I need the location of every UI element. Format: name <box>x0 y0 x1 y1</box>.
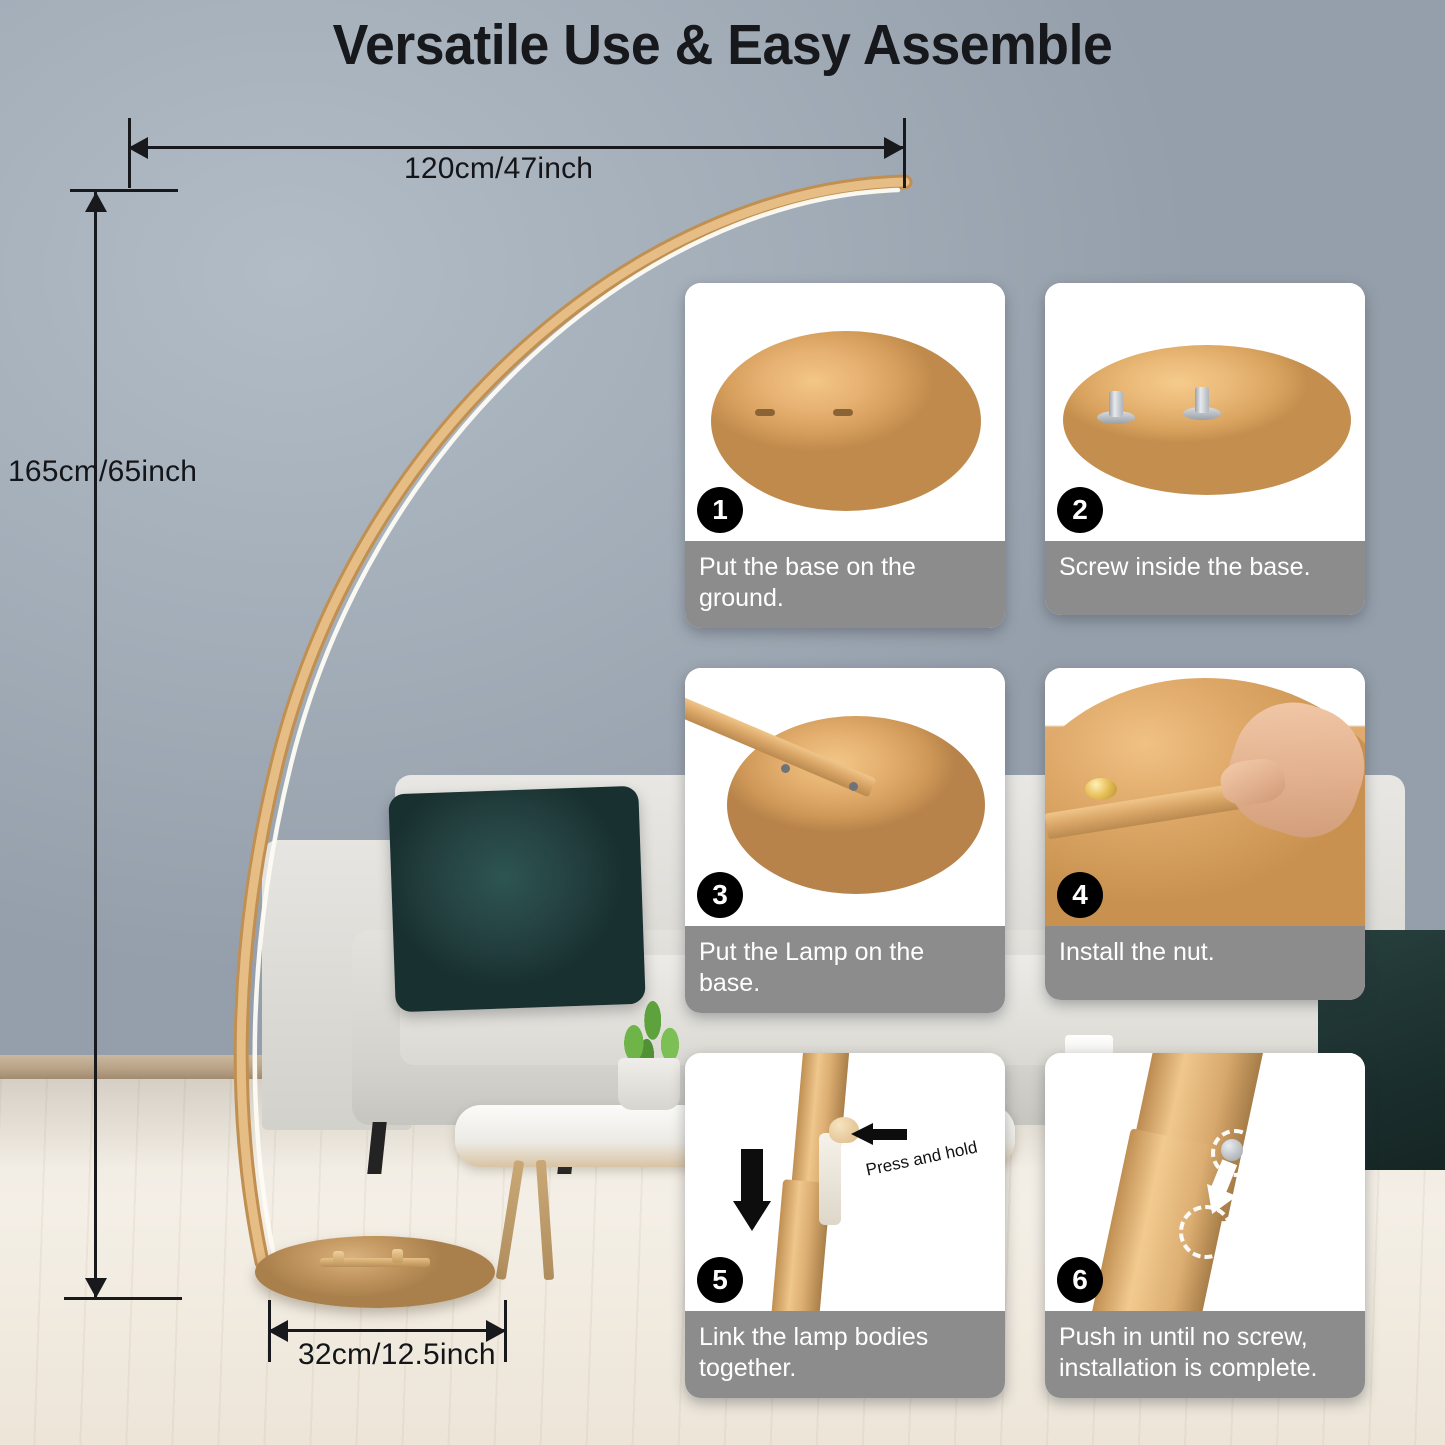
arm-screw <box>849 782 858 791</box>
width-arrow-left-icon <box>128 137 148 159</box>
step-1-photo: 1 <box>685 283 1005 541</box>
step-3-photo: 3 <box>685 668 1005 926</box>
base-disc-graphic <box>711 331 981 511</box>
step-5-photo: Press and hold 5 <box>685 1053 1005 1311</box>
step-card-2[interactable]: 2 Screw inside the base. <box>1045 283 1365 615</box>
step-2-photo: 2 <box>1045 283 1365 541</box>
step-number-badge: 6 <box>1057 1257 1103 1303</box>
lamp-base-disc <box>255 1236 495 1308</box>
width-line <box>128 146 904 149</box>
base-dimension-label: 32cm/12.5inch <box>298 1338 496 1372</box>
step-card-1[interactable]: 1 Put the base on the ground. <box>685 283 1005 628</box>
screw-post <box>1109 391 1123 417</box>
step-caption: Push in until no screw, installation is … <box>1045 1311 1365 1398</box>
down-arrow-shaft-icon <box>741 1149 763 1203</box>
height-arrow-up-icon <box>85 192 107 212</box>
screw-post <box>1195 387 1209 413</box>
product-infographic: Versatile Use & Easy Assemble 120cm/47in… <box>0 0 1445 1445</box>
connector-pin <box>819 1133 841 1225</box>
step-number-badge: 2 <box>1057 487 1103 533</box>
width-arrow-right-icon <box>884 137 904 159</box>
gold-nut <box>1085 778 1117 800</box>
step-4-photo: 4 <box>1045 668 1365 926</box>
step-number-badge: 5 <box>697 1257 743 1303</box>
height-line <box>94 192 97 1298</box>
down-arrow-head-icon <box>733 1201 771 1231</box>
press-arrow-head-icon <box>851 1123 873 1145</box>
lamp-base-nut <box>392 1249 403 1263</box>
step-caption: Install the nut. <box>1045 926 1365 1000</box>
step-caption: Link the lamp bodies together. <box>685 1311 1005 1398</box>
step-card-3[interactable]: 3 Put the Lamp on the base. <box>685 668 1005 1013</box>
base-slot <box>755 409 775 416</box>
press-arrow-shaft-icon <box>871 1129 907 1140</box>
height-arrow-down-icon <box>85 1278 107 1298</box>
base-line <box>268 1329 507 1332</box>
page-title: Versatile Use & Easy Assemble <box>43 12 1401 78</box>
step-card-4[interactable]: 4 Install the nut. <box>1045 668 1365 1000</box>
width-dimension-label: 120cm/47inch <box>404 152 593 186</box>
assembly-steps-grid: 1 Put the base on the ground. 2 Screw in… <box>685 283 1385 1413</box>
lamp-base-nut <box>333 1251 344 1265</box>
step-caption: Screw inside the base. <box>1045 541 1365 615</box>
height-tick-bottom <box>64 1297 182 1300</box>
step-6-photo: 6 <box>1045 1053 1365 1311</box>
step-number-badge: 4 <box>1057 872 1103 918</box>
step-caption: Put the base on the ground. <box>685 541 1005 628</box>
step-card-6[interactable]: 6 Push in until no screw, installation i… <box>1045 1053 1365 1398</box>
arm-screw <box>781 764 790 773</box>
step-card-5[interactable]: Press and hold 5 Link the lamp bodies to… <box>685 1053 1005 1398</box>
height-dimension-label: 165cm/65inch <box>8 455 197 489</box>
step-caption: Put the Lamp on the base. <box>685 926 1005 1013</box>
base-slot <box>833 409 853 416</box>
base-arrow-left-icon <box>268 1320 288 1342</box>
press-and-hold-label: Press and hold <box>864 1137 979 1180</box>
step-number-badge: 3 <box>697 872 743 918</box>
step-number-badge: 1 <box>697 487 743 533</box>
